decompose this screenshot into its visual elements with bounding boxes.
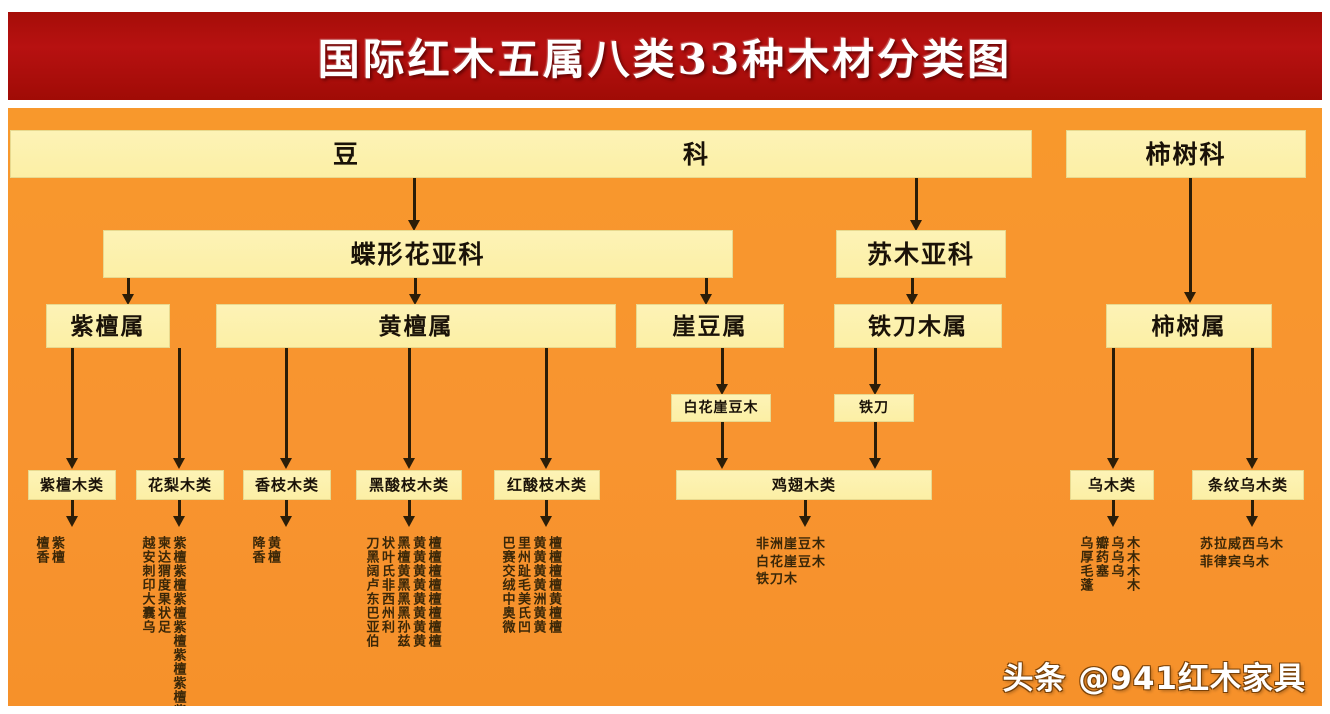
node-genus-cassia[interactable]: 铁刀木属: [834, 304, 1002, 348]
arrowhead-zitan-class: [66, 458, 78, 469]
species-column: 檀檀檀檀檀檀檀檀: [426, 536, 440, 648]
node-woodclass-huali[interactable]: 花梨木类: [136, 470, 224, 500]
connector-dalbergia-to-xiangzhi: [285, 348, 288, 464]
node-genus-dalbergia-label: 黄檀属: [379, 315, 454, 338]
node-woodclass-tiaowenwumu[interactable]: 条纹乌木类: [1192, 470, 1304, 500]
diagram-page: 国际红木五属八类33种木材分类图 豆 科 柿树科 蝶形花亚科 苏木亚科: [0, 0, 1330, 714]
arrowhead-heisuanzhi-class: [403, 458, 415, 469]
arrowhead-wumu-species: [1107, 516, 1119, 527]
arrowhead-tiaowenwumu-species: [1246, 516, 1258, 527]
connector-dalbergia-to-heisuanzhi: [408, 348, 411, 464]
species-list-zitan: 紫檀 檀香: [34, 536, 63, 564]
node-subfamily-caesalpinioideae-label: 苏木亚科: [867, 242, 975, 267]
arrowhead-jichi-right: [869, 458, 881, 469]
species-column: 紫檀紫檀紫檀紫檀紫檀紫檀紫檀: [171, 536, 185, 706]
species-item: 非洲崖豆木: [756, 536, 826, 554]
node-woodclass-heisuanzhi-label: 黑酸枝木类: [369, 478, 449, 493]
connector-ebony-family-to-diospyros: [1189, 178, 1192, 298]
node-woodclass-heisuanzhi[interactable]: 黑酸枝木类: [356, 470, 462, 500]
species-column: 巴赛交绒中奥微: [500, 536, 514, 634]
arrowhead-huali-species: [173, 516, 185, 527]
page-title: 国际红木五属八类33种木材分类图: [318, 26, 1012, 87]
node-genus-cassia-label: 铁刀木属: [868, 315, 968, 338]
arrowhead-jichi-left: [716, 458, 728, 469]
species-column: 乌厚毛蓬: [1078, 536, 1092, 592]
node-genus-millettia[interactable]: 崖豆属: [636, 304, 784, 348]
node-woodclass-wumu[interactable]: 乌木类: [1070, 470, 1154, 500]
species-item: 菲律宾乌木: [1200, 554, 1284, 572]
species-list-jichi: 非洲崖豆木 白花崖豆木 铁刀木: [756, 536, 826, 589]
species-column: 降香: [250, 536, 264, 564]
arrowhead-xiangzhi-species: [280, 516, 292, 527]
node-woodclass-wumu-label: 乌木类: [1088, 478, 1136, 493]
node-family-ebony[interactable]: 柿树科: [1066, 130, 1306, 178]
connector-legume-to-papilionoideae: [413, 178, 416, 226]
node-subfamily-caesalpinioideae[interactable]: 苏木亚科: [836, 230, 1006, 278]
species-list-xiangzhi: 黄檀 降香: [250, 536, 279, 564]
node-genus-millettia-label: 崖豆属: [673, 315, 748, 338]
connector-dalbergia-to-hongsuanzhi: [545, 348, 548, 464]
species-column: 黄黄黄黄黄黄黄黄: [411, 536, 425, 648]
node-tiedao[interactable]: 铁刀: [834, 394, 914, 422]
species-column: 黑檀黄黑黑黑孙兹: [395, 536, 409, 648]
node-genus-dalbergia[interactable]: 黄檀属: [216, 304, 616, 348]
arrowhead-hongsuanzhi-species: [540, 516, 552, 527]
node-woodclass-hongsuanzhi-label: 红酸枝木类: [507, 478, 587, 493]
species-column: 檀檀檀檀黄檀檀: [547, 536, 561, 634]
node-genus-diospyros-label: 柿树属: [1152, 315, 1227, 338]
node-baihuayadoumu-label: 白花崖豆木: [684, 401, 759, 415]
arrowhead-huali-class: [173, 458, 185, 469]
species-item: 白花崖豆木: [756, 554, 826, 572]
species-list-huali: 紫檀紫檀紫檀紫檀紫檀紫檀紫檀 柬达猬度果状足 越安刺印大囊乌: [140, 536, 185, 706]
node-woodclass-xiangzhi[interactable]: 香枝木类: [243, 470, 331, 500]
species-column: 里州趾毛美氏凹: [516, 536, 530, 634]
node-woodclass-jichi-label: 鸡翅木类: [772, 478, 836, 493]
connector-legume-to-caesalpinioideae: [915, 178, 918, 226]
node-family-ebony-label: 柿树科: [1145, 142, 1226, 167]
node-family-legume[interactable]: 豆 科: [10, 130, 1032, 178]
node-tiedao-label: 铁刀: [859, 401, 889, 415]
species-column: 黄黄黄黄洲黄黄: [531, 536, 545, 634]
species-column: 紫檀: [50, 536, 64, 564]
title-banner: 国际红木五属八类33种木材分类图: [8, 12, 1322, 100]
species-item: 苏拉威西乌木: [1200, 536, 1284, 554]
species-list-heisuanzhi: 檀檀檀檀檀檀檀檀 黄黄黄黄黄黄黄黄 黑檀黄黑黑黑孙兹 状叶氏非西州利 刀黑阔卢东…: [364, 536, 440, 648]
node-woodclass-hongsuanzhi[interactable]: 红酸枝木类: [494, 470, 600, 500]
species-list-hongsuanzhi: 檀檀檀檀黄檀檀 黄黄黄黄洲黄黄 里州趾毛美氏凹 巴赛交绒中奥微: [500, 536, 560, 634]
node-woodclass-jichi[interactable]: 鸡翅木类: [676, 470, 932, 500]
arrowhead-xiangzhi-class: [280, 458, 292, 469]
species-item: 铁刀木: [756, 571, 826, 589]
species-list-wumu: 木木木木 乌乌乌 瓣药塞 乌厚毛蓬: [1078, 536, 1138, 592]
node-genus-diospyros[interactable]: 柿树属: [1106, 304, 1272, 348]
arrowhead-hongsuanzhi-class: [540, 458, 552, 469]
node-subfamily-papilionoideae-label: 蝶形花亚科: [350, 242, 485, 267]
node-woodclass-zitan-label: 紫檀木类: [40, 478, 104, 493]
node-woodclass-tiaowenwumu-label: 条纹乌木类: [1208, 478, 1288, 493]
node-family-legume-right-char: 科: [683, 142, 710, 167]
species-column: 刀黑阔卢东巴亚伯: [364, 536, 378, 648]
arrowhead-zitan-species: [66, 516, 78, 527]
species-column: 越安刺印大囊乌: [140, 536, 154, 634]
species-column: 柬达猬度果状足: [156, 536, 170, 634]
species-column: 瓣药塞: [1094, 536, 1108, 578]
species-column: 乌乌乌: [1109, 536, 1123, 578]
node-family-legume-left-char: 豆: [333, 142, 360, 167]
species-column: 黄檀: [266, 536, 280, 564]
species-list-tiaowenwumu: 苏拉威西乌木 菲律宾乌木: [1200, 536, 1284, 571]
node-baihuayadoumu[interactable]: 白花崖豆木: [671, 394, 771, 422]
species-column: 木木木木: [1125, 536, 1139, 592]
node-subfamily-papilionoideae[interactable]: 蝶形花亚科: [103, 230, 733, 278]
connector-diospyros-to-tiaowenwumu: [1251, 348, 1254, 464]
node-genus-pterocarpus[interactable]: 紫檀属: [46, 304, 170, 348]
node-woodclass-huali-label: 花梨木类: [148, 478, 212, 493]
connector-pterocarpus-to-huali: [178, 348, 181, 464]
arrowhead-diospyros: [1184, 292, 1196, 303]
node-woodclass-zitan[interactable]: 紫檀木类: [28, 470, 116, 500]
node-woodclass-xiangzhi-label: 香枝木类: [255, 478, 319, 493]
watermark-label: 头条 @941红木家具: [1002, 653, 1306, 698]
node-genus-pterocarpus-label: 紫檀属: [71, 315, 146, 338]
arrowhead-jichi-species: [799, 516, 811, 527]
arrowhead-wumu-class: [1107, 458, 1119, 469]
connector-diospyros-to-wumu: [1112, 348, 1115, 464]
species-column: 状叶氏非西州利: [380, 536, 394, 634]
arrowhead-tiaowenwumu-class: [1246, 458, 1258, 469]
species-column: 檀香: [34, 536, 48, 564]
arrowhead-heisuanzhi-species: [403, 516, 415, 527]
connector-pterocarpus-to-zitan: [71, 348, 74, 464]
diagram-canvas: 豆 科 柿树科 蝶形花亚科 苏木亚科: [8, 108, 1322, 706]
